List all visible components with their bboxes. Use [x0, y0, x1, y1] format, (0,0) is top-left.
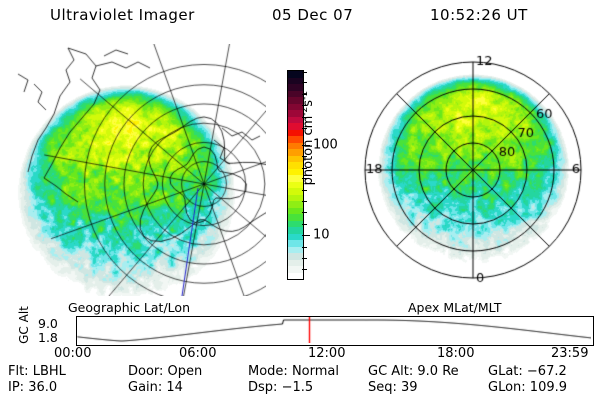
colorbar-major-tick: [302, 235, 310, 236]
colorbar-minor-tick: [302, 269, 307, 270]
colorbar-segment: [288, 273, 303, 280]
colorbar-minor-tick: [302, 105, 307, 106]
geographic-polar-plot[interactable]: [8, 44, 266, 296]
status-field-value: −1.5: [282, 380, 314, 395]
status-row-2: IP: 36.0Gain: 14Dsp: −1.5Seq: 39GLon: 10…: [8, 380, 592, 396]
status-field-value: 36.0: [28, 380, 57, 395]
colorbar-minor-tick: [302, 128, 307, 129]
status-field-value: 9.0 Re: [417, 364, 458, 379]
status-field-label: Gain:: [128, 380, 166, 395]
colorbar-minor-tick: [302, 156, 307, 157]
colorbar-minor-tick: [302, 178, 307, 179]
observation-date: 05 Dec 07: [272, 6, 353, 24]
colorbar-minor-tick: [302, 117, 307, 118]
status-field: GLon: 109.9: [488, 380, 567, 395]
colorbar-tick-label: 100: [313, 138, 338, 151]
status-readout: Flt: LBHLDoor: OpenMode: NormalGC Alt: 9…: [8, 364, 592, 398]
status-field: GC Alt: 9.0 Re: [368, 364, 459, 379]
status-field-value: Normal: [292, 364, 339, 379]
colorbar-minor-tick: [302, 72, 307, 73]
gc-alt-axis-label: GC Alt: [17, 303, 31, 347]
colorbar-minor-tick: [302, 168, 307, 169]
status-field-label: Mode:: [248, 364, 292, 379]
colorbar-minor-tick: [302, 94, 307, 95]
colorbar-tick-label: 10: [313, 229, 330, 242]
colorbar-minor-tick: [302, 224, 307, 225]
gc-alt-min-label: 1.8: [38, 330, 58, 345]
status-field-value: 109.9: [530, 380, 567, 395]
status-field-label: GC Alt:: [368, 364, 417, 379]
status-field-label: Door:: [128, 364, 168, 379]
status-field-label: GLon:: [488, 380, 530, 395]
status-field-value: 39: [401, 380, 418, 395]
status-field-label: Flt:: [8, 364, 33, 379]
gc-alt-max-label: 9.0: [38, 316, 58, 331]
time-axis: 00:0006:0012:0018:0023:59: [8, 346, 592, 362]
colorbar-minor-tick: [302, 190, 307, 191]
colorbar-minor-tick: [302, 258, 307, 259]
status-field: Door: Open: [128, 364, 202, 379]
orbit-altitude-strip[interactable]: Geographic Lat/Lon Apex MLat/MLT GC Alt …: [8, 300, 592, 344]
colorbar-minor-tick: [302, 212, 307, 213]
status-field-value: LBHL: [33, 364, 66, 379]
header-bar: Ultraviolet Imager 05 Dec 07 10:52:26 UT: [0, 6, 600, 32]
colorbar-minor-tick: [302, 82, 307, 83]
instrument-title: Ultraviolet Imager: [50, 6, 195, 24]
status-field: GLat: −67.2: [488, 364, 567, 379]
time-axis-label: 12:00: [308, 346, 345, 361]
colorbar-ticks: 10010: [302, 70, 348, 278]
status-row-1: Flt: LBHLDoor: OpenMode: NormalGC Alt: 9…: [8, 364, 592, 380]
status-field-label: Seq:: [368, 380, 401, 395]
time-axis-label: 00:00: [54, 346, 91, 361]
time-axis-label: 18:00: [437, 346, 474, 361]
panel-titles: Geographic Lat/Lon Apex MLat/MLT: [8, 300, 592, 316]
orbit-trace-frame[interactable]: [76, 316, 594, 346]
apex-plot-canvas[interactable]: [352, 42, 594, 294]
status-field: Gain: 14: [128, 380, 183, 395]
status-field: Seq: 39: [368, 380, 418, 395]
colorbar-minor-tick: [302, 201, 307, 202]
status-field: Flt: LBHL: [8, 364, 66, 379]
left-panel-title: Geographic Lat/Lon: [68, 300, 190, 315]
geographic-plot-canvas[interactable]: [8, 44, 266, 296]
status-field: Dsp: −1.5: [248, 380, 313, 395]
right-panel-title: Apex MLat/MLT: [408, 300, 502, 315]
status-field-value: −67.2: [527, 364, 567, 379]
colorbar: photon cm-2s-1 10010: [268, 52, 348, 292]
status-field-value: 14: [166, 380, 183, 395]
colorbar-minor-tick: [302, 247, 307, 248]
uvi-viewer: Ultraviolet Imager 05 Dec 07 10:52:26 UT…: [0, 0, 600, 400]
status-field: IP: 36.0: [8, 380, 57, 395]
colorbar-major-tick: [302, 145, 310, 146]
status-field-label: Dsp:: [248, 380, 282, 395]
orbit-trace-canvas[interactable]: [77, 317, 591, 343]
status-field: Mode: Normal: [248, 364, 339, 379]
apex-mlat-mlt-plot[interactable]: [352, 42, 594, 294]
time-axis-label: 06:00: [179, 346, 216, 361]
time-axis-label: 23:59: [551, 346, 588, 361]
status-field-label: GLat:: [488, 364, 527, 379]
status-field-label: IP:: [8, 380, 28, 395]
status-field-value: Open: [168, 364, 203, 379]
observation-time: 10:52:26 UT: [430, 6, 528, 24]
